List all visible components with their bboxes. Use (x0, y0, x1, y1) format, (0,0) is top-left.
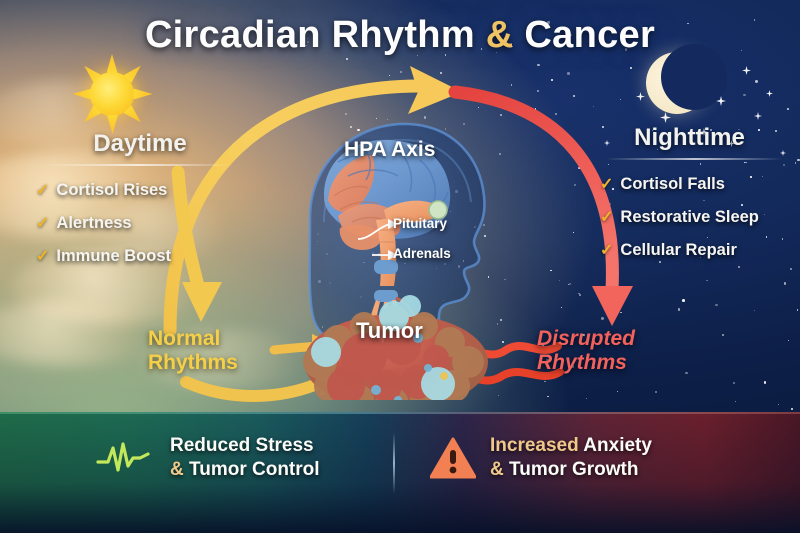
outcome-negative-line1: Increased Anxiety (490, 434, 652, 458)
nighttime-item-1: ✓ Restorative Sleep (600, 207, 797, 227)
label-hpa-axis: HPA Axis (344, 138, 435, 162)
daytime-divider (42, 164, 234, 166)
warning-triangle-icon (430, 437, 476, 479)
daytime-panel: Daytime ✓ Cortisol Rises ✓ Alertness ✓ I… (28, 58, 248, 279)
daytime-item-2: ✓ Immune Boost (36, 246, 248, 266)
check-icon: ✓ (600, 207, 613, 227)
outcome-negative-amp: & (490, 459, 504, 480)
outcome-positive-line1: Reduced Stress (170, 434, 320, 458)
outcome-negative-highlight: Increased (490, 435, 579, 456)
outcome-positive-text: Reduced Stress & Tumor Control (170, 434, 320, 482)
outcome-band: Reduced Stress & Tumor Control Increased… (0, 412, 800, 533)
label-disrupted-rhythms: Disrupted Rhythms (537, 327, 635, 374)
sun-icon-wrap (28, 58, 248, 130)
outcome-positive-amp: & (170, 459, 184, 480)
infographic-canvas: Circadian Rhythm & Cancer (0, 0, 800, 533)
outcome-negative: Increased Anxiety & Tumor Growth (430, 434, 652, 482)
outcome-positive-line2: & Tumor Control (170, 458, 320, 482)
nighttime-divider (606, 158, 783, 160)
outcome-negative-line1-text: Anxiety (579, 435, 652, 456)
outcome-negative-line2-text: Tumor Growth (504, 459, 639, 480)
normal-rhythms-line1: Normal (148, 327, 238, 351)
label-adrenals: Adrenals (393, 246, 451, 261)
band-top-rule (0, 412, 800, 414)
title-ampersand: & (486, 14, 514, 56)
page-title: Circadian Rhythm & Cancer (0, 14, 800, 57)
label-pituitary: Pituitary (393, 216, 447, 231)
daytime-item-1: ✓ Alertness (36, 213, 248, 233)
nighttime-panel: Nighttime ✓ Cortisol Falls ✓ Restorative… (592, 52, 797, 273)
check-icon: ✓ (36, 246, 49, 266)
check-icon: ✓ (36, 180, 49, 200)
outcome-negative-text: Increased Anxiety & Tumor Growth (490, 434, 652, 482)
nighttime-item-0-label: Cortisol Falls (620, 175, 725, 194)
disrupted-rhythms-line2: Rhythms (537, 351, 635, 375)
nighttime-heading: Nighttime (592, 124, 797, 158)
label-tumor: Tumor (356, 318, 423, 344)
check-icon: ✓ (36, 213, 49, 233)
nighttime-item-2: ✓ Cellular Repair (600, 240, 797, 260)
disrupted-rhythms-line1: Disrupted (537, 327, 635, 351)
nighttime-item-2-label: Cellular Repair (620, 241, 736, 260)
daytime-item-0-label: Cortisol Rises (56, 181, 167, 200)
daytime-item-2-label: Immune Boost (56, 247, 171, 266)
moon-icon (632, 46, 718, 128)
normal-rhythms-line2: Rhythms (148, 351, 238, 375)
sun-icon (66, 54, 158, 134)
outcome-negative-line2: & Tumor Growth (490, 458, 652, 482)
daytime-item-0: ✓ Cortisol Rises (36, 180, 248, 200)
nighttime-item-1-label: Restorative Sleep (620, 208, 758, 227)
outcome-positive-line2-text: Tumor Control (184, 459, 320, 480)
nighttime-item-0: ✓ Cortisol Falls (600, 174, 797, 194)
outcome-positive: Reduced Stress & Tumor Control (96, 434, 320, 482)
band-divider (393, 432, 395, 494)
check-icon: ✓ (600, 174, 613, 194)
check-icon: ✓ (600, 240, 613, 260)
label-normal-rhythms: Normal Rhythms (148, 327, 238, 374)
title-main: Circadian Rhythm (145, 14, 486, 56)
daytime-heading: Daytime (28, 130, 248, 164)
title-tail: Cancer (514, 14, 656, 56)
ecg-heartbeat-icon (96, 438, 156, 478)
moon-icon-wrap (592, 52, 797, 124)
daytime-item-1-label: Alertness (56, 214, 131, 233)
